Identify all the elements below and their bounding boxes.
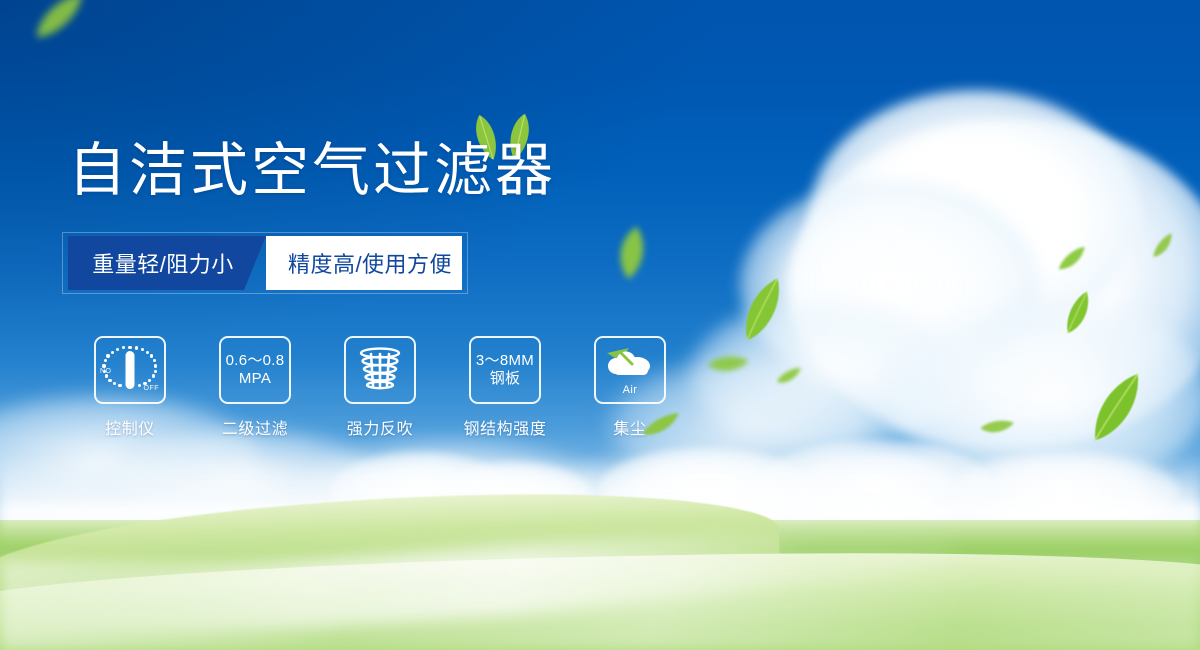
- pressure-text-icon: 0.6～0.8: [226, 352, 285, 370]
- page-title: 自洁式空气过滤器: [68, 142, 556, 200]
- subtitle-left-segment: 重量轻/阻力小: [68, 236, 266, 290]
- feature-item-steel-strength[interactable]: 3～8MM 钢板 钢结构强度: [445, 336, 565, 439]
- gauge-dial-icon: NO OFF: [101, 344, 159, 396]
- pressure-unit-text: MPA: [239, 370, 271, 388]
- feature-label: 二级过滤: [222, 415, 288, 439]
- filter-cartridge-icon: [355, 345, 405, 395]
- feature-item-secondary-filtration[interactable]: 0.6～0.8 MPA 二级过滤: [195, 336, 315, 439]
- subtitle-bar: 重量轻/阻力小 精度高/使用方便: [68, 236, 462, 290]
- feature-icon-box: Air: [594, 336, 666, 404]
- gauge-on-label: NO: [100, 368, 112, 375]
- feature-label: 控制仪: [105, 415, 155, 439]
- feature-item-back-blow[interactable]: 强力反吹: [320, 336, 440, 439]
- steel-plate-text-icon: 3～8MM: [476, 352, 534, 370]
- grass-sheen: [0, 560, 1200, 650]
- product-hero-banner: 自洁式空气过滤器 重量轻/阻力小 精度高/使用方便: [0, 0, 1200, 650]
- feature-icon-box: 3～8MM 钢板: [469, 336, 541, 404]
- cloud-air-icon: [603, 347, 657, 383]
- feature-item-dust-collection[interactable]: Air 集尘: [570, 336, 690, 439]
- feature-label: 集尘: [613, 415, 646, 439]
- feature-icon-box: NO OFF: [94, 336, 166, 404]
- feature-item-control-gauge[interactable]: NO OFF 控制仪: [70, 336, 190, 439]
- gauge-needle: [126, 351, 135, 389]
- feature-label: 强力反吹: [347, 415, 413, 439]
- gauge-off-label: OFF: [144, 385, 160, 392]
- feature-label: 钢结构强度: [463, 415, 546, 439]
- air-text-label: Air: [623, 384, 638, 396]
- steel-plate-material-text: 钢板: [490, 370, 521, 388]
- feature-icon-box: 0.6～0.8 MPA: [219, 336, 291, 404]
- feature-icon-box: [344, 336, 416, 404]
- subtitle-right-segment: 精度高/使用方便: [266, 236, 462, 290]
- feature-list: NO OFF 控制仪 0.6～0.8 MPA 二级过滤: [70, 336, 690, 439]
